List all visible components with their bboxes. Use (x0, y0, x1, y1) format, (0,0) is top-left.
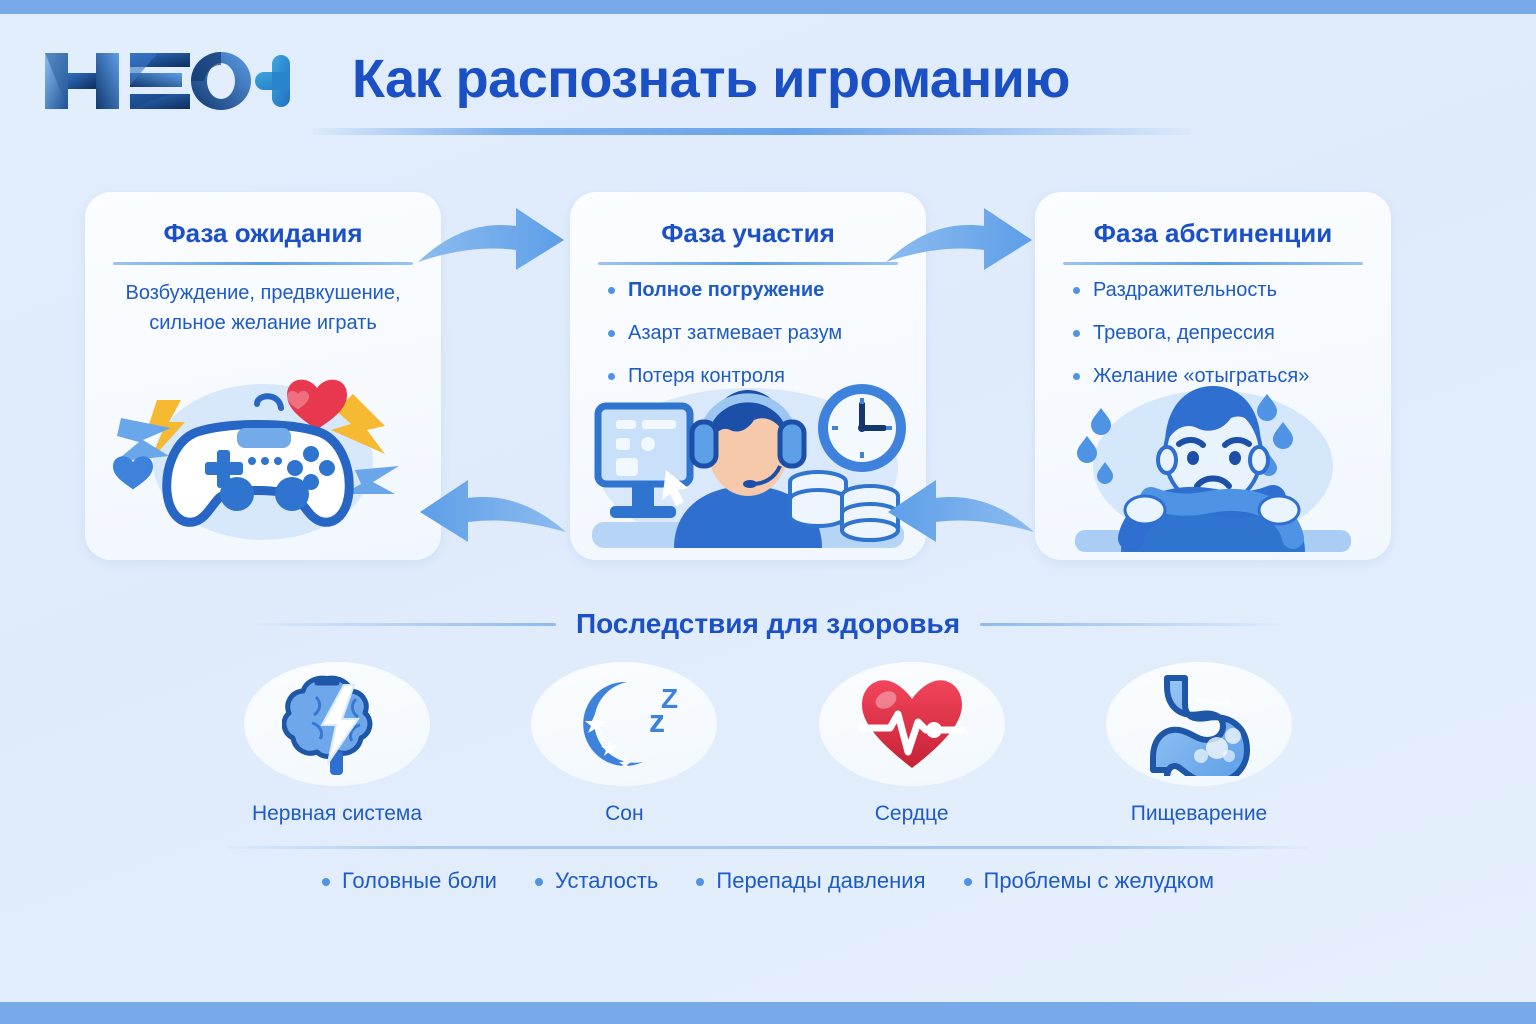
arrow-phase2-to-phase1 (412, 472, 572, 548)
symptom-item: Головные боли (322, 868, 497, 894)
bullet-item: Полное погружение (604, 278, 906, 321)
brain-lightning-icon (244, 662, 430, 786)
health-item-label: Пищеварение (1131, 802, 1268, 826)
svg-text:Z: Z (661, 683, 678, 714)
infographic-root: Как распознать игроманию Фаза ожидания В… (0, 0, 1536, 1024)
arrow-phase1-to-phase2 (412, 200, 572, 276)
health-item-label: Сердце (875, 802, 949, 826)
phase-card-title: Фаза абстиненции (1035, 218, 1391, 249)
top-accent-band (0, 0, 1536, 14)
symptoms-divider (228, 846, 1308, 849)
gamer-monitor-clock-coins-illustration (570, 370, 926, 560)
bullet-item: Тревога, депрессия (1069, 321, 1371, 364)
health-item-sleep[interactable]: z Z Сон (519, 662, 729, 826)
health-item-digestion[interactable]: Пищеварение (1094, 662, 1304, 826)
section-rule-right (980, 623, 1280, 626)
arrow-phase2-to-phase3 (880, 200, 1040, 276)
sad-person-illustration (1035, 370, 1391, 560)
bullet-item: Раздражительность (1069, 278, 1371, 321)
phase-card-title: Фаза участия (570, 218, 926, 249)
bottom-accent-band (0, 1002, 1536, 1024)
health-item-nervous-system[interactable]: Нервная система (232, 662, 442, 826)
phase-card-participation[interactable]: Фаза участия Полное погружение Азарт зат… (570, 192, 926, 560)
phase-card-title: Фаза ожидания (85, 218, 441, 249)
symptom-item: Проблемы с желудком (964, 868, 1215, 894)
gamepad-heart-illustration (85, 370, 441, 560)
health-item-label: Сон (605, 802, 643, 826)
card-divider (598, 262, 898, 265)
phase-description: Возбуждение, предвкушение, сильное желан… (105, 278, 421, 338)
symptom-item: Усталость (535, 868, 658, 894)
section-rule-left (256, 623, 556, 626)
heart-pulse-icon (819, 662, 1005, 786)
card-divider (1063, 262, 1363, 265)
health-item-heart[interactable]: Сердце (807, 662, 1017, 826)
phase-card-body: Возбуждение, предвкушение, сильное желан… (105, 278, 421, 338)
phase-card-withdrawal[interactable]: Фаза абстиненции Раздражительность Трево… (1035, 192, 1391, 560)
health-icon-row: Нервная система z Z Сон (232, 662, 1304, 826)
card-divider (113, 262, 413, 265)
title-underline (312, 128, 1192, 135)
health-section-header: Последствия для здоровья (0, 608, 1536, 640)
arrow-phase3-to-phase2 (880, 472, 1040, 548)
symptom-item: Перепады давления (696, 868, 925, 894)
phase-card-anticipation[interactable]: Фаза ожидания Возбуждение, предвкушение,… (85, 192, 441, 560)
neo-plus-logo (40, 45, 290, 117)
symptoms-row: Головные боли Усталость Перепады давлени… (0, 868, 1536, 894)
bullet-item: Азарт затмевает разум (604, 321, 906, 364)
stomach-icon (1106, 662, 1292, 786)
page-title: Как распознать игроманию (352, 48, 1172, 110)
health-item-label: Нервная система (252, 802, 422, 826)
health-section-title: Последствия для здоровья (576, 608, 960, 640)
moon-zzz-icon: z Z (531, 662, 717, 786)
